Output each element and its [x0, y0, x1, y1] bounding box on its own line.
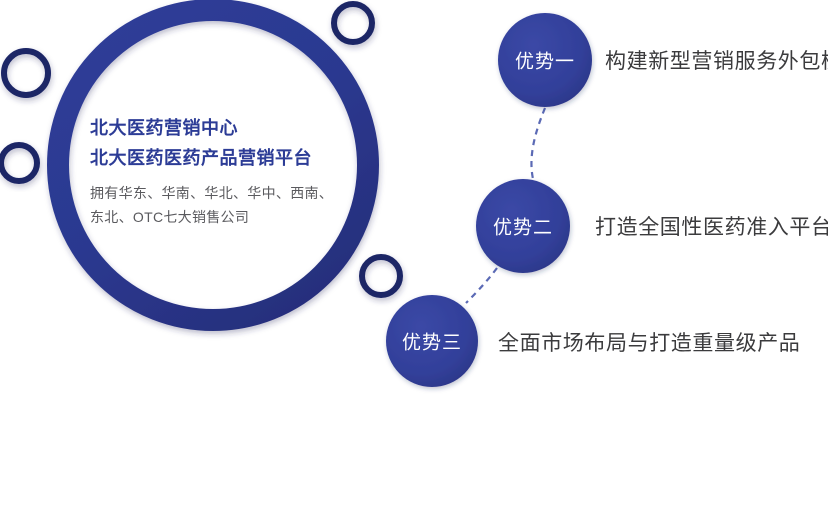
advantage-hit-3[interactable]	[386, 295, 478, 387]
hero-subtitle: 拥有华东、华南、华北、华中、西南、 东北、OTC七大销售公司	[90, 181, 335, 229]
advantage-hit-2[interactable]	[476, 179, 570, 273]
decor-circle-top-right	[334, 4, 372, 42]
hero-subtitle-line-2: 东北、OTC七大销售公司	[90, 205, 335, 229]
connector-two-to-three	[466, 268, 497, 303]
infographic-canvas: 北大医药营销中心 北大医药医药产品营销平台 拥有华东、华南、华北、华中、西南、 …	[0, 0, 828, 521]
advantage-description-1: 构建新型营销服务外包模式	[605, 45, 828, 75]
advantage-description-3: 全面市场布局与打造重量级产品	[498, 327, 800, 357]
decor-circle-mid-right	[362, 257, 400, 295]
hero-title-line-1: 北大医药营销中心	[90, 113, 335, 143]
hero-title-line-2: 北大医药医药产品营销平台	[90, 143, 335, 173]
advantage-description-2: 打造全国性医药准入平台	[595, 211, 828, 241]
decor-circle-left-lower	[1, 145, 37, 181]
infographic-artwork	[0, 0, 828, 521]
connector-one-to-two	[531, 108, 545, 179]
advantage-hit-1[interactable]	[498, 13, 592, 107]
hero-subtitle-line-1: 拥有华东、华南、华北、华中、西南、	[90, 181, 335, 205]
hero-text-block: 北大医药营销中心 北大医药医药产品营销平台 拥有华东、华南、华北、华中、西南、 …	[90, 113, 335, 229]
decor-circle-left-upper	[4, 51, 48, 95]
